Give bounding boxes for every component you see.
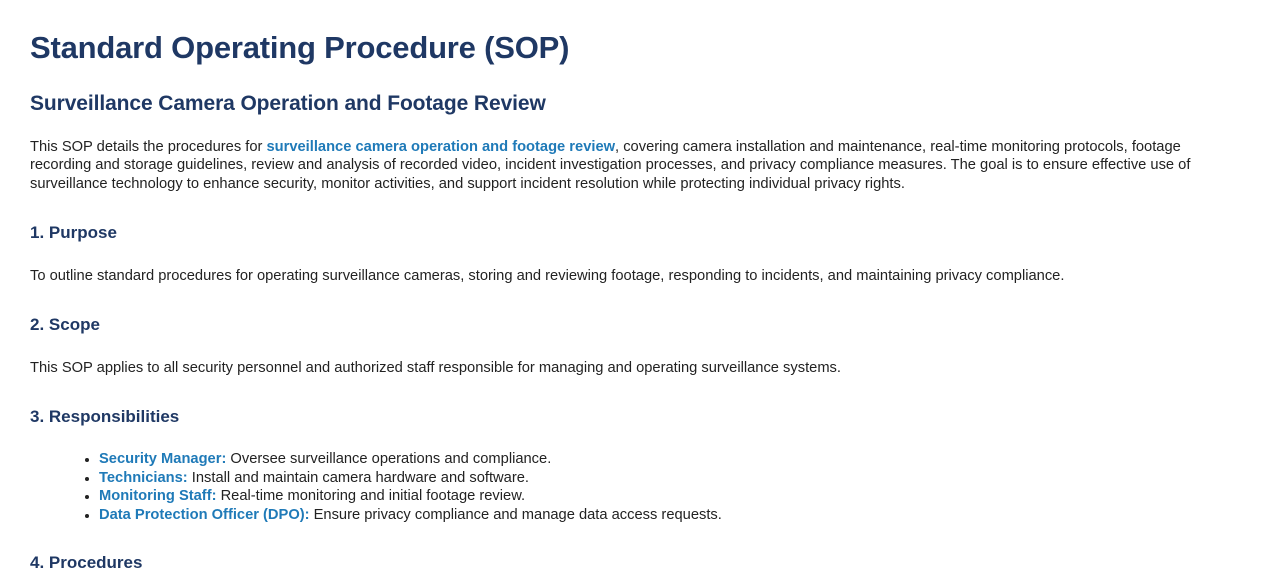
section-heading-scope: 2. Scope (30, 286, 1233, 335)
page-title: Standard Operating Procedure (SOP) (30, 0, 1233, 66)
list-item: Technicians: Install and maintain camera… (30, 469, 1233, 488)
role-label: Monitoring Staff: (99, 488, 216, 504)
role-description: Real-time monitoring and initial footage… (216, 488, 525, 504)
list-item: Security Manager: Oversee surveillance o… (30, 450, 1233, 469)
role-label: Technicians: (99, 470, 188, 486)
role-label: Data Protection Officer (DPO): (99, 507, 310, 523)
intro-highlight-phrase: surveillance camera operation and footag… (266, 139, 615, 155)
document-page: Standard Operating Procedure (SOP) Surve… (0, 0, 1263, 574)
section-heading-purpose: 1. Purpose (30, 194, 1233, 243)
responsibilities-list: Security Manager: Oversee surveillance o… (30, 427, 1233, 524)
intro-paragraph: This SOP details the procedures for surv… (30, 116, 1230, 194)
section-heading-responsibilities: 3. Responsibilities (30, 378, 1233, 427)
intro-text-before: This SOP details the procedures for (30, 139, 266, 155)
role-label: Security Manager: (99, 451, 226, 467)
section-body-scope: This SOP applies to all security personn… (30, 335, 1230, 378)
list-item: Data Protection Officer (DPO): Ensure pr… (30, 506, 1233, 525)
section-heading-procedures: 4. Procedures (30, 524, 1233, 573)
document-subtitle: Surveillance Camera Operation and Footag… (30, 66, 1233, 116)
role-description: Oversee surveillance operations and comp… (226, 451, 551, 467)
role-description: Ensure privacy compliance and manage dat… (310, 507, 722, 523)
section-body-purpose: To outline standard procedures for opera… (30, 243, 1230, 286)
list-item: Monitoring Staff: Real-time monitoring a… (30, 487, 1233, 506)
role-description: Install and maintain camera hardware and… (188, 470, 529, 486)
